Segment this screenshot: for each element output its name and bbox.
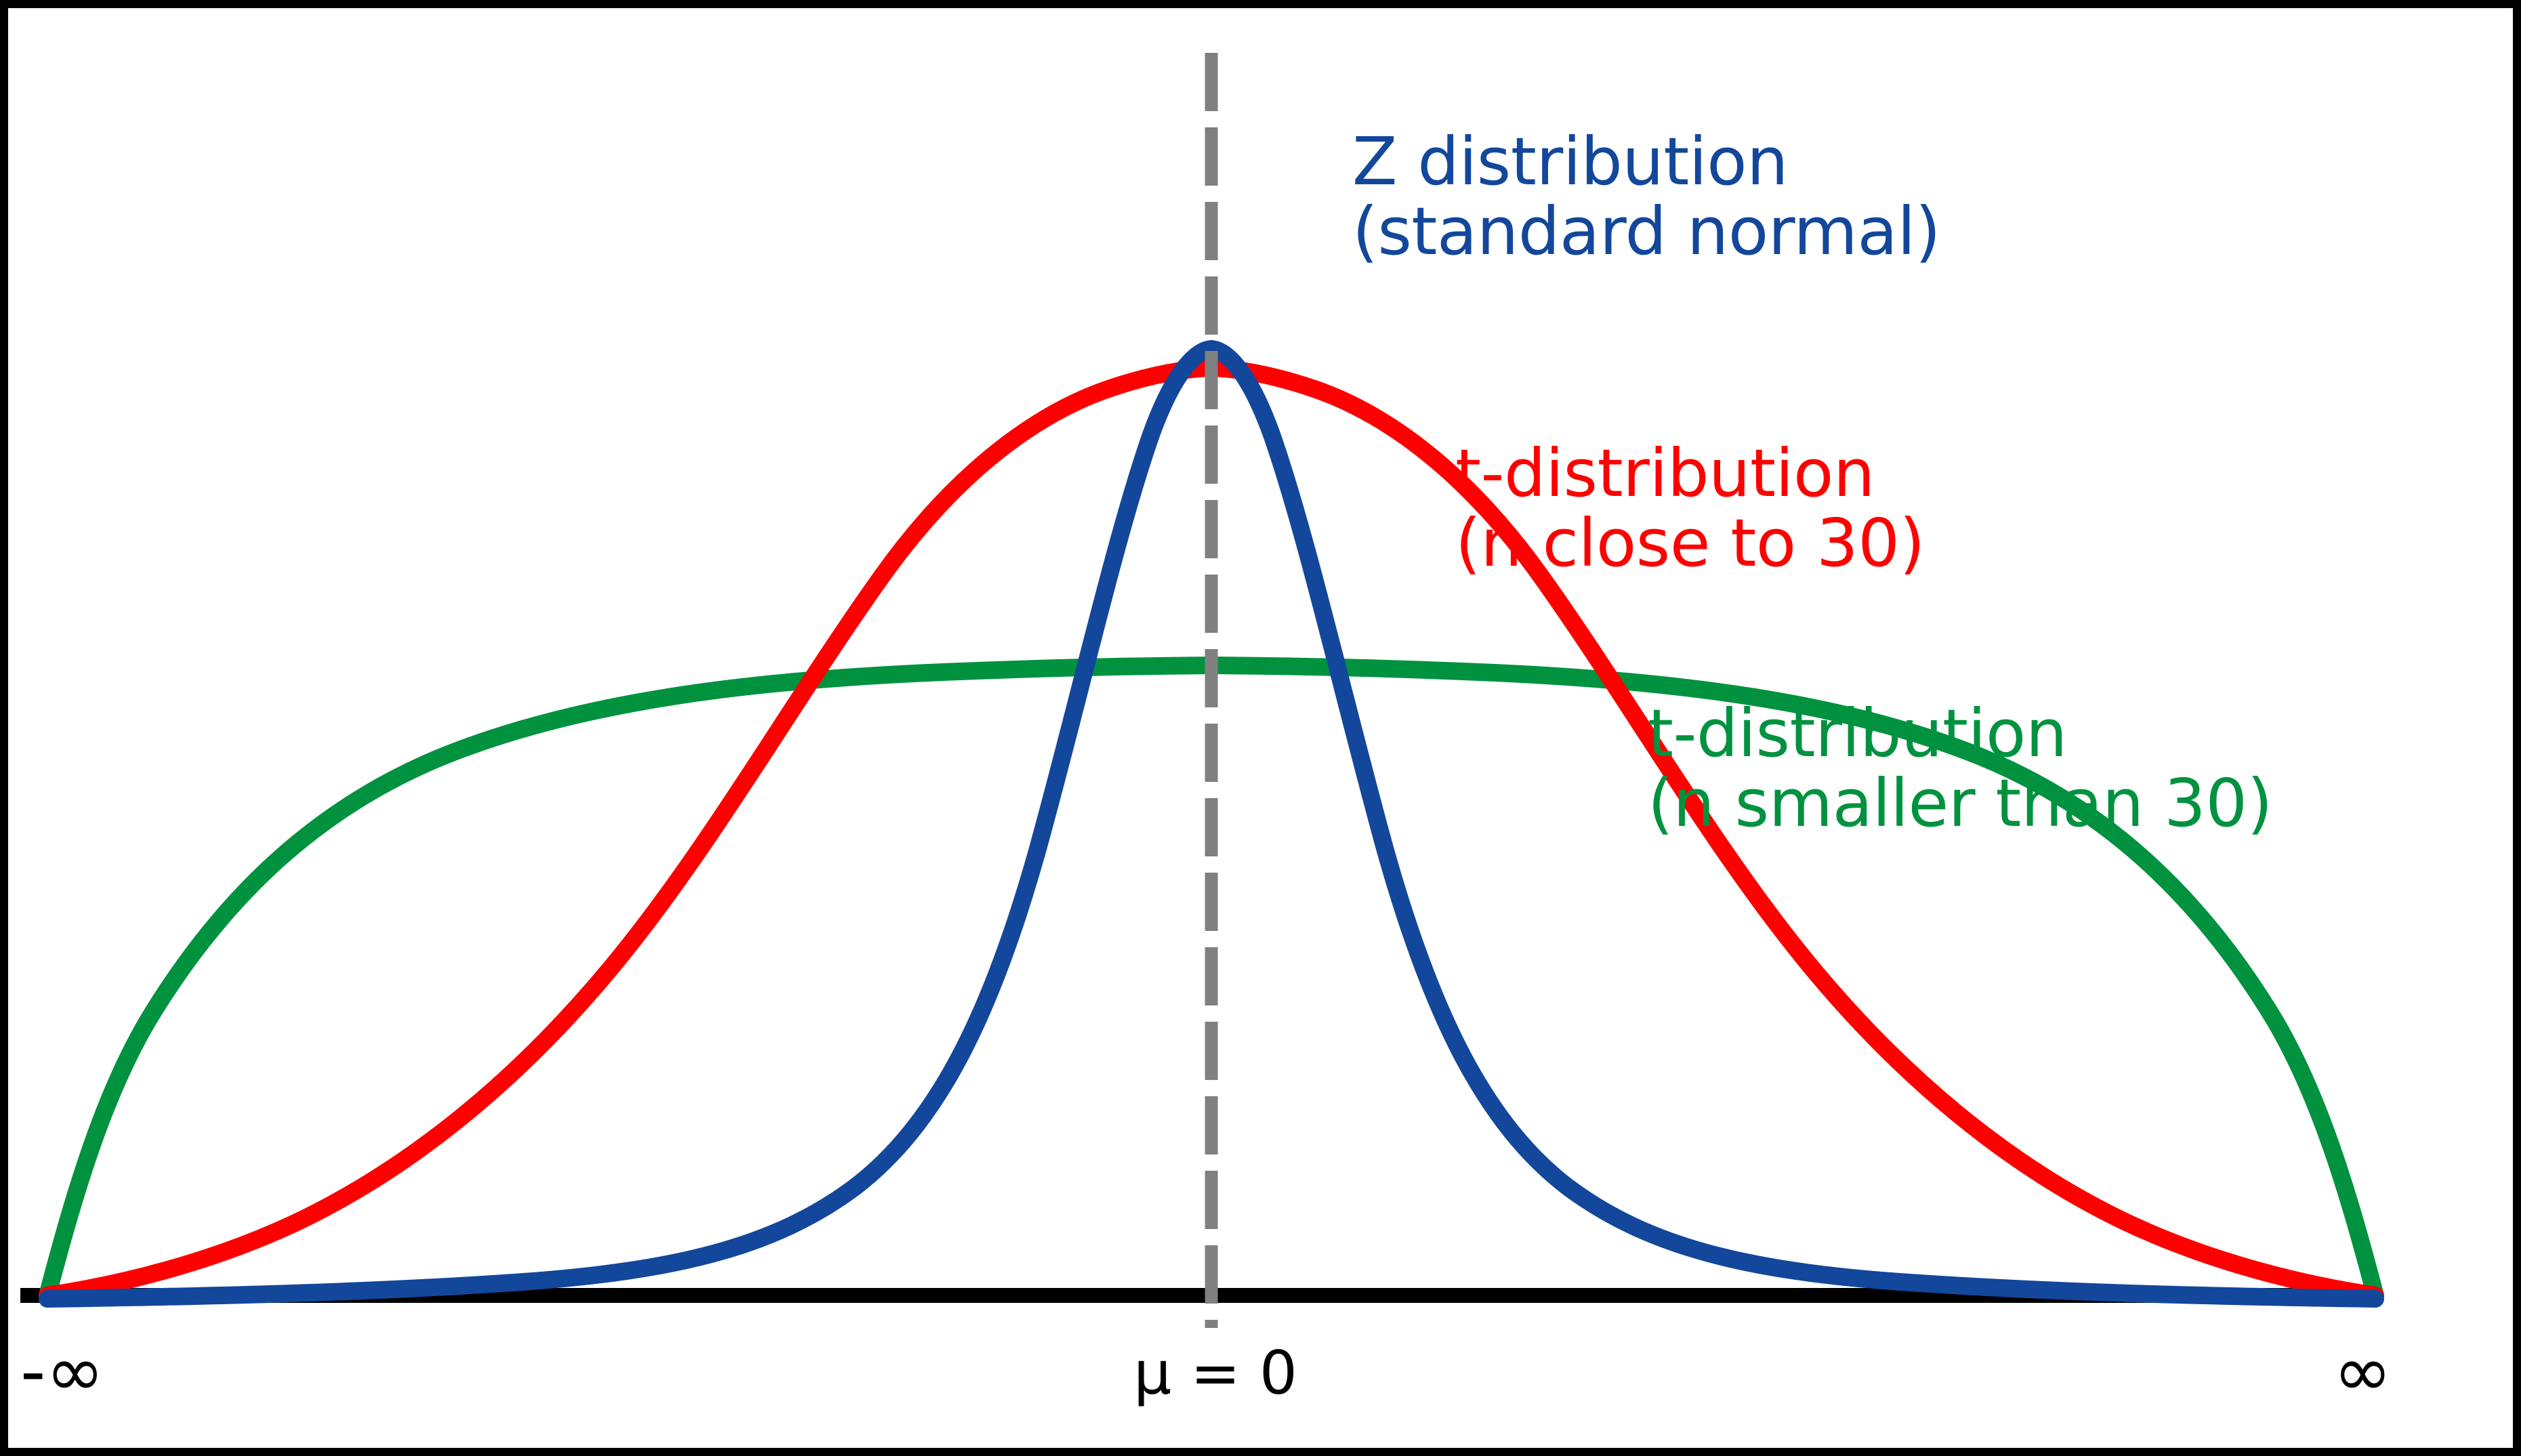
axis-label-negative-infinity: -∞ [20, 1330, 104, 1413]
legend-label-t-distribution-close-30: t-distribution (n close to 30) [1455, 439, 1925, 579]
axis-label-mean: μ = 0 [1133, 1338, 1297, 1408]
legend-label-t-distribution-smaller-30: t-distribution (n smaller than 30) [1648, 699, 2272, 839]
legend-label-z-distribution: Z distribution (standard normal) [1352, 127, 1940, 267]
figure-root: Z distribution (standard normal) t-distr… [0, 0, 2521, 1456]
axis-label-positive-infinity: ∞ [2333, 1330, 2392, 1413]
plot-area: Z distribution (standard normal) t-distr… [8, 8, 2513, 1448]
